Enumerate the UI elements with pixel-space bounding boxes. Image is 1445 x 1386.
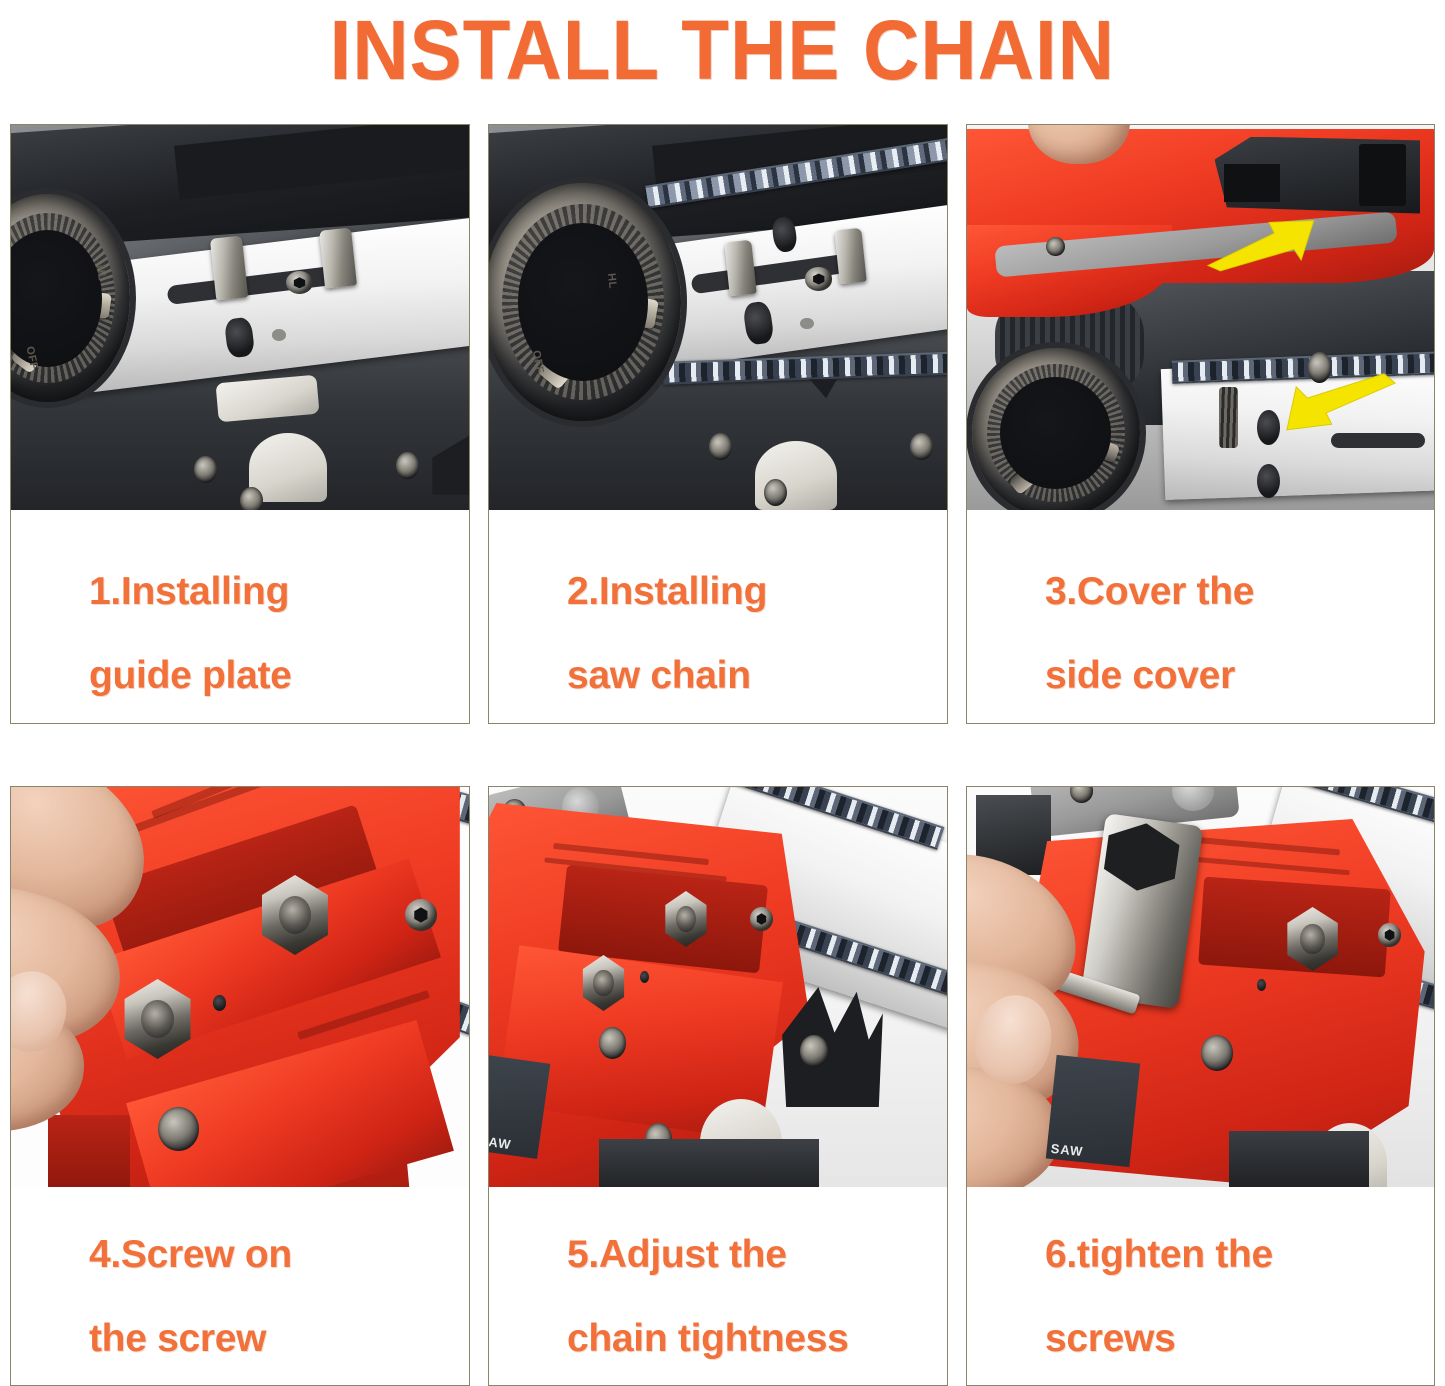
step-caption-4: 4.Screw on the screw [11, 1187, 469, 1385]
sprocket-mark-hl: HL [605, 273, 619, 290]
annotation-arrow-2 [1285, 371, 1397, 433]
step-photo-5: SAW [489, 787, 947, 1187]
annotation-arrow-1 [1201, 217, 1322, 271]
step-photo-3 [967, 125, 1434, 510]
step-caption-6: 6.tighten the screws [967, 1187, 1434, 1385]
step-panel-4: 4.Screw on the screw [10, 786, 470, 1386]
sprocket-drum [489, 183, 681, 422]
steps-grid: HL OFF 1.Installing guide plate [10, 124, 1435, 1386]
step-caption-3: 3.Cover the side cover [967, 510, 1434, 723]
title-bar: INSTALL THE CHAIN [0, 0, 1445, 100]
step-panel-2: HL OFF 2.Installing saw chain [488, 124, 948, 724]
step-caption-5: 5.Adjust the chain tightness [489, 1187, 947, 1385]
step-panel-1: HL OFF 1.Installing guide plate [10, 124, 470, 724]
step-panel-5: SAW 5.Adjust the chain tightness [488, 786, 948, 1386]
page-title: INSTALL THE CHAIN [330, 8, 1115, 92]
sprocket-mark-hl: HL [94, 265, 108, 282]
instruction-sheet: INSTALL THE CHAIN [0, 0, 1445, 1386]
step-caption-1: 1.Installing guide plate [11, 510, 469, 723]
step-photo-1: HL OFF [11, 125, 469, 510]
step-panel-3: 3.Cover the side cover [966, 124, 1435, 724]
sprocket-drum [972, 348, 1140, 510]
step-panel-6: SAW 6.tighten the screws [966, 786, 1435, 1386]
body-label: SAW [1046, 1055, 1140, 1167]
mounting-stud [320, 227, 358, 288]
step-photo-6: SAW [967, 787, 1434, 1187]
mounting-stud [209, 235, 247, 300]
step-caption-2: 2.Installing saw chain [489, 510, 947, 723]
sprocket-drum [11, 194, 130, 402]
step-photo-2: HL OFF [489, 125, 947, 510]
step-photo-4 [11, 787, 469, 1187]
